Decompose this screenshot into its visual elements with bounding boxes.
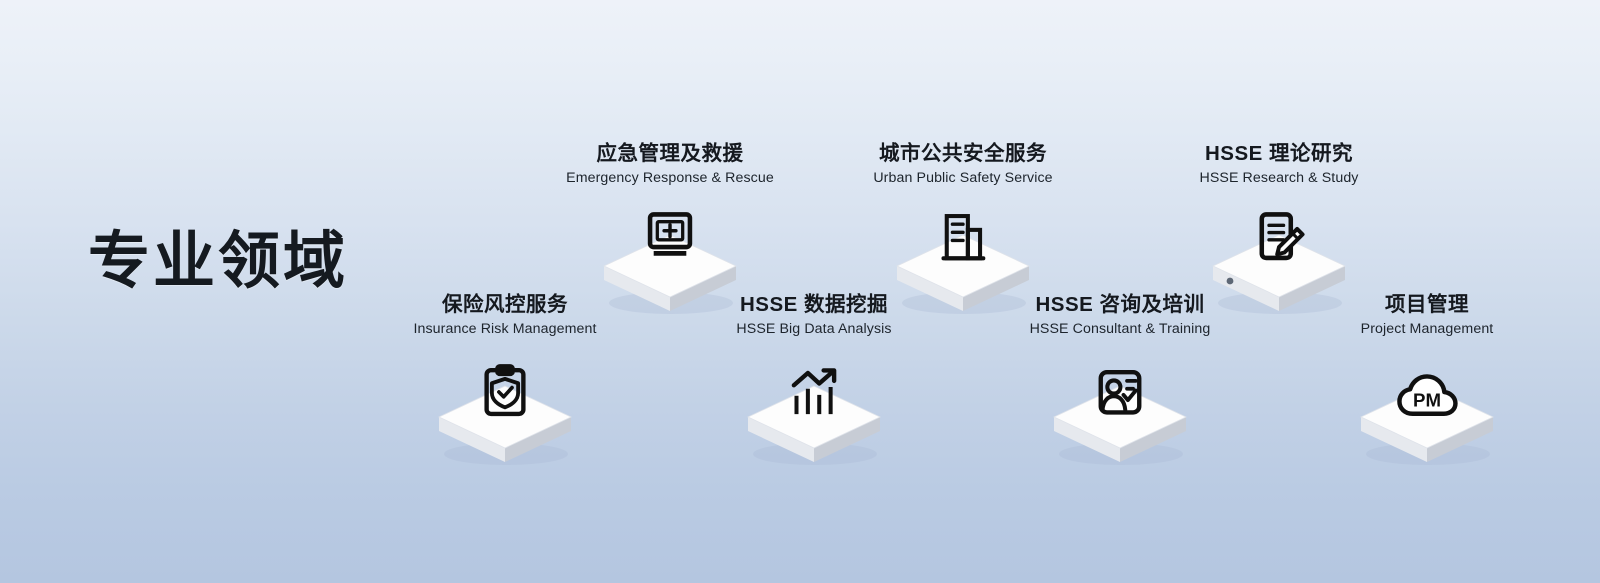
domain-card-big-data-analysis[interactable]: HSSE 数据挖掘 HSSE Big Data Analysis (684, 295, 944, 466)
cloud-pm-label: PM (1413, 389, 1441, 410)
card-title-cn: 保险风控服务 (375, 295, 635, 316)
plinth-wrap (375, 346, 635, 466)
card-label: 应急管理及救援 Emergency Response & Rescue (540, 144, 800, 185)
card-title-en: Project Management (1297, 322, 1557, 336)
card-label: HSSE 理论研究 HSSE Research & Study (1149, 144, 1409, 185)
card-title-en: HSSE Big Data Analysis (684, 322, 944, 336)
card-title-cn: HSSE 理论研究 (1149, 144, 1409, 165)
plinth-wrap (990, 346, 1250, 466)
plinth-wrap (684, 346, 944, 466)
domain-card-emergency-response[interactable]: 应急管理及救援 Emergency Response & Rescue (540, 144, 800, 315)
domain-card-insurance-risk[interactable]: 保险风控服务 Insurance Risk Management (375, 295, 635, 466)
office-building-icon (920, 189, 1006, 267)
first-aid-kit-icon (627, 189, 713, 267)
plinth-dot-detail (1227, 277, 1234, 284)
domain-card-hsse-research[interactable]: HSSE 理论研究 HSSE Research & Study (1149, 144, 1409, 315)
clipboard-shield-check-icon (462, 344, 548, 422)
professional-fields-banner: 专业领域 应急管理及救援 Emergency Response & Rescue (0, 0, 1600, 583)
card-title-cn: 城市公共安全服务 (833, 144, 1093, 165)
card-title-en: Urban Public Safety Service (833, 171, 1093, 185)
card-title-cn: 应急管理及救援 (540, 144, 800, 165)
page-title: 专业领域 (88, 228, 348, 296)
card-title-en: Emergency Response & Rescue (540, 171, 800, 185)
domain-card-project-management[interactable]: 项目管理 Project Management PM (1297, 295, 1557, 466)
card-label: 保险风控服务 Insurance Risk Management (375, 295, 635, 336)
card-title-en: HSSE Research & Study (1149, 171, 1409, 185)
card-title-en: Insurance Risk Management (375, 322, 635, 336)
document-pencil-icon (1236, 189, 1322, 267)
cloud-pm-icon: PM (1384, 344, 1470, 422)
plinth-wrap: PM (1297, 346, 1557, 466)
id-card-person-check-icon (1077, 344, 1163, 422)
domain-card-hsse-consultant[interactable]: HSSE 咨询及培训 HSSE Consultant & Training (990, 295, 1250, 466)
card-title-cn: 项目管理 (1297, 295, 1557, 316)
card-label: 项目管理 Project Management (1297, 295, 1557, 336)
card-title-en: HSSE Consultant & Training (990, 322, 1250, 336)
bar-chart-trend-icon (771, 344, 857, 422)
domain-card-urban-public-safety[interactable]: 城市公共安全服务 Urban Public Safety Service (833, 144, 1093, 315)
card-label: 城市公共安全服务 Urban Public Safety Service (833, 144, 1093, 185)
